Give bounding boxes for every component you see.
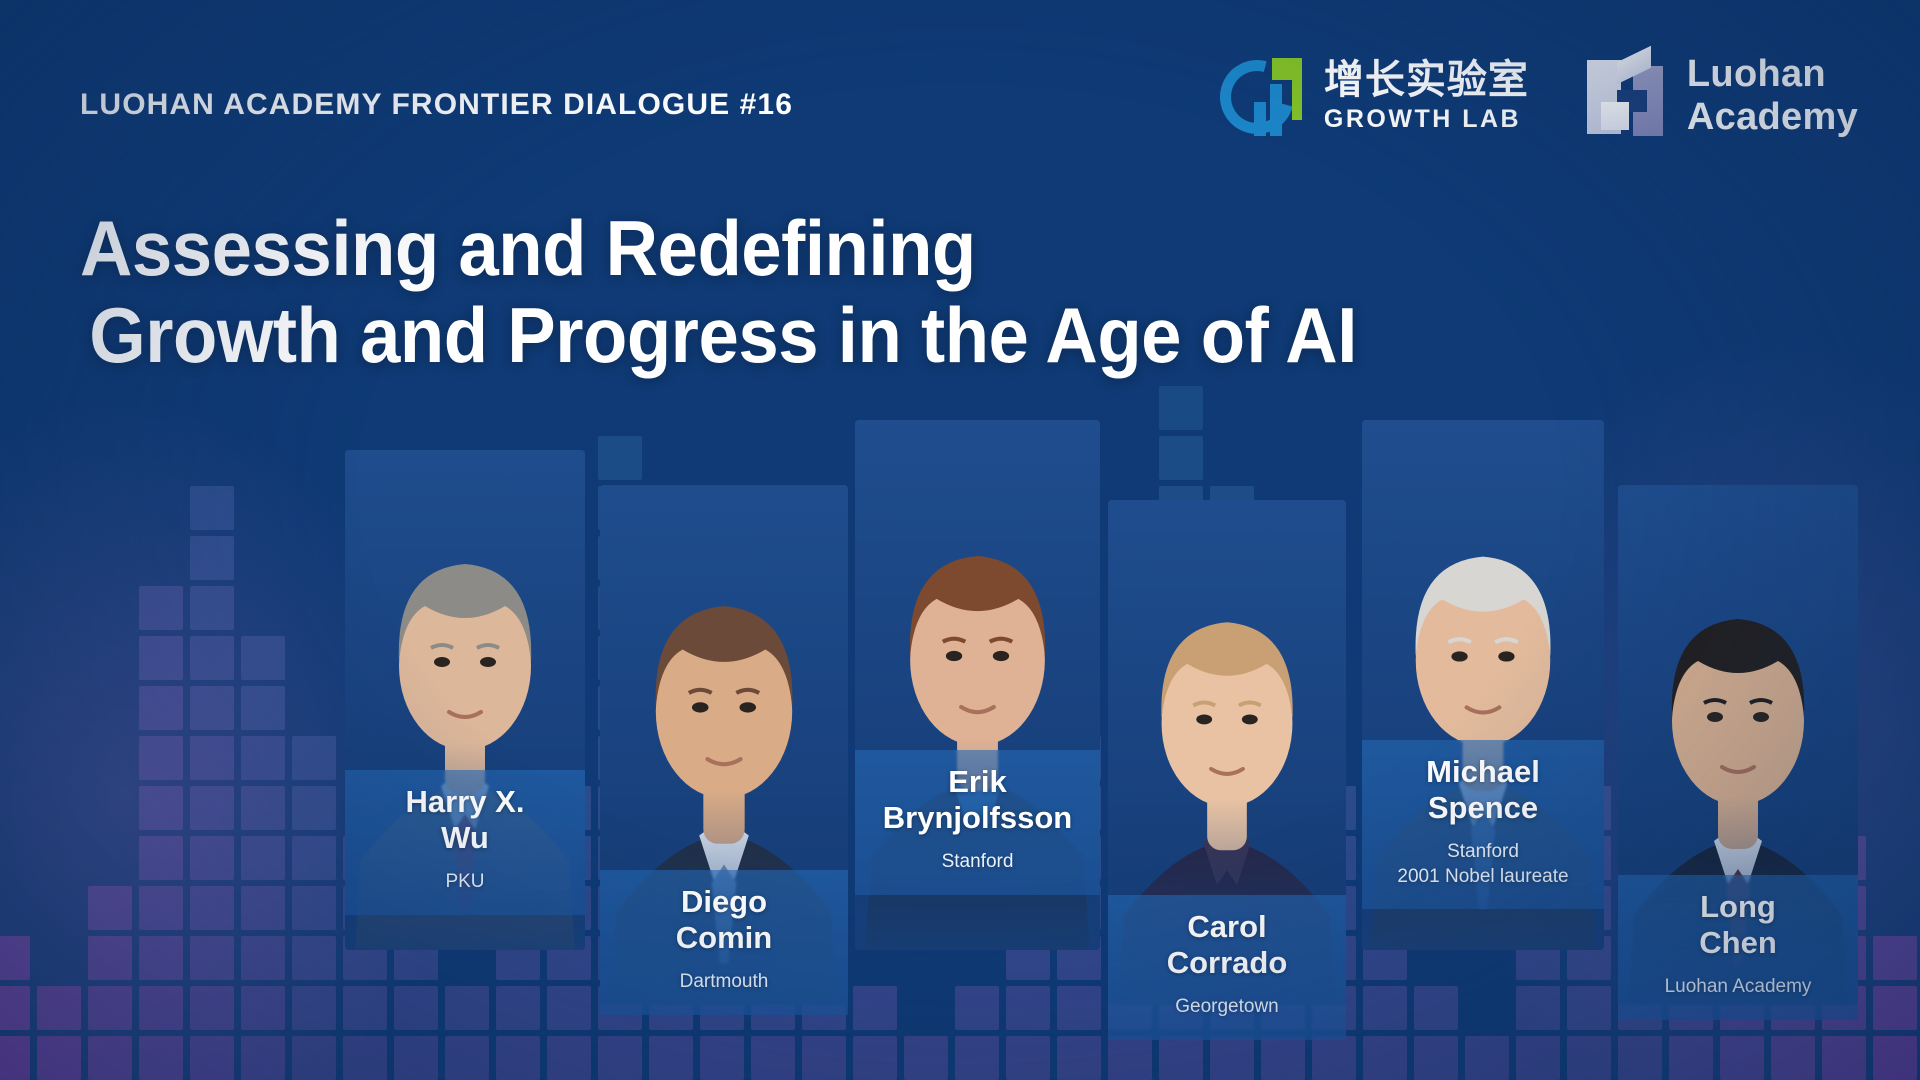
- poster-canvas: LUOHAN ACADEMY FRONTIER DIALOGUE #16 Ass…: [0, 0, 1920, 1080]
- speaker-name: ErikBrynjolfsson: [863, 764, 1092, 836]
- event-eyebrow: LUOHAN ACADEMY FRONTIER DIALOGUE #16: [80, 88, 793, 122]
- speaker-affiliation-line-1: PKU: [353, 870, 577, 895]
- speaker-name-line-2: Corrado: [1116, 945, 1338, 981]
- speaker-name: CarolCorrado: [1116, 909, 1338, 981]
- speaker-row: Harry X.WuPKUDiegoCominDartmouthErikBryn…: [0, 360, 1920, 1080]
- speaker-nameplate: DiegoCominDartmouth: [600, 870, 848, 1015]
- speaker-name: Harry X.Wu: [353, 784, 577, 856]
- speaker-nameplate: Harry X.WuPKU: [345, 770, 585, 915]
- luohan-academy-logo: Luohan Academy: [1587, 53, 1858, 138]
- growth-lab-wordmark: 增长实验室 GROWTH LAB: [1324, 60, 1529, 132]
- speaker-affiliation-line-1: Dartmouth: [608, 970, 840, 995]
- speaker-affiliation-line-1: Stanford: [1370, 840, 1596, 865]
- speaker-affiliation: Stanford2001 Nobel laureate: [1370, 840, 1596, 889]
- speaker-nameplate: LongChenLuohan Academy: [1618, 875, 1858, 1020]
- logo-group: 增长实验室 GROWTH LAB Luohan Academy: [1220, 52, 1858, 140]
- growth-lab-logo: 增长实验室 GROWTH LAB: [1220, 52, 1529, 140]
- speaker-name-line-2: Comin: [608, 920, 840, 956]
- speaker-name: LongChen: [1626, 889, 1850, 961]
- page-title: Assessing and Redefining Growth and Prog…: [80, 205, 1357, 380]
- speaker-card[interactable]: LongChenLuohan Academy: [1618, 485, 1858, 1080]
- speaker-nameplate: ErikBrynjolfssonStanford: [855, 750, 1100, 895]
- speaker-card[interactable]: MichaelSpenceStanford2001 Nobel laureate: [1362, 420, 1604, 1080]
- speaker-card[interactable]: Harry X.WuPKU: [345, 450, 585, 1080]
- speaker-affiliation-line-1: Georgetown: [1116, 995, 1338, 1020]
- speaker-affiliation: Dartmouth: [608, 970, 840, 995]
- speaker-affiliation: Georgetown: [1116, 995, 1338, 1020]
- speaker-name-line-1: Erik: [863, 764, 1092, 800]
- speaker-name-line-1: Michael: [1370, 754, 1596, 790]
- speaker-affiliation-line-1: Stanford: [863, 850, 1092, 875]
- speaker-affiliation: Stanford: [863, 850, 1092, 875]
- speaker-nameplate: MichaelSpenceStanford2001 Nobel laureate: [1362, 740, 1604, 909]
- speaker-card[interactable]: DiegoCominDartmouth: [600, 485, 848, 1080]
- growth-lab-english: GROWTH LAB: [1324, 107, 1529, 132]
- luohan-name-line-2: Academy: [1687, 96, 1858, 139]
- title-line-1: Assessing and Redefining: [80, 205, 1357, 292]
- speaker-affiliation-line-2: 2001 Nobel laureate: [1370, 865, 1596, 890]
- speaker-card[interactable]: ErikBrynjolfssonStanford: [855, 420, 1100, 1080]
- speaker-name-line-1: Harry X.: [353, 784, 577, 820]
- speaker-name-line-1: Carol: [1116, 909, 1338, 945]
- luohan-academy-wordmark: Luohan Academy: [1687, 53, 1858, 138]
- speaker-affiliation: PKU: [353, 870, 577, 895]
- luohan-name-line-1: Luohan: [1687, 53, 1858, 96]
- speaker-nameplate: CarolCorradoGeorgetown: [1108, 895, 1346, 1040]
- speaker-name: MichaelSpence: [1370, 754, 1596, 826]
- speaker-card[interactable]: CarolCorradoGeorgetown: [1108, 500, 1346, 1080]
- growth-lab-mark-icon: [1220, 52, 1308, 140]
- speaker-name-line-2: Brynjolfsson: [863, 800, 1092, 836]
- speaker-name-line-2: Wu: [353, 820, 577, 856]
- speaker-name-line-2: Spence: [1370, 790, 1596, 826]
- speaker-name-line-1: Diego: [608, 884, 840, 920]
- speaker-name: DiegoComin: [608, 884, 840, 956]
- speaker-name-line-1: Long: [1626, 889, 1850, 925]
- speaker-affiliation: Luohan Academy: [1626, 975, 1850, 1000]
- growth-lab-chinese: 增长实验室: [1324, 60, 1529, 100]
- speaker-name-line-2: Chen: [1626, 925, 1850, 961]
- luohan-cube-icon: [1587, 54, 1667, 138]
- speaker-affiliation-line-1: Luohan Academy: [1626, 975, 1850, 1000]
